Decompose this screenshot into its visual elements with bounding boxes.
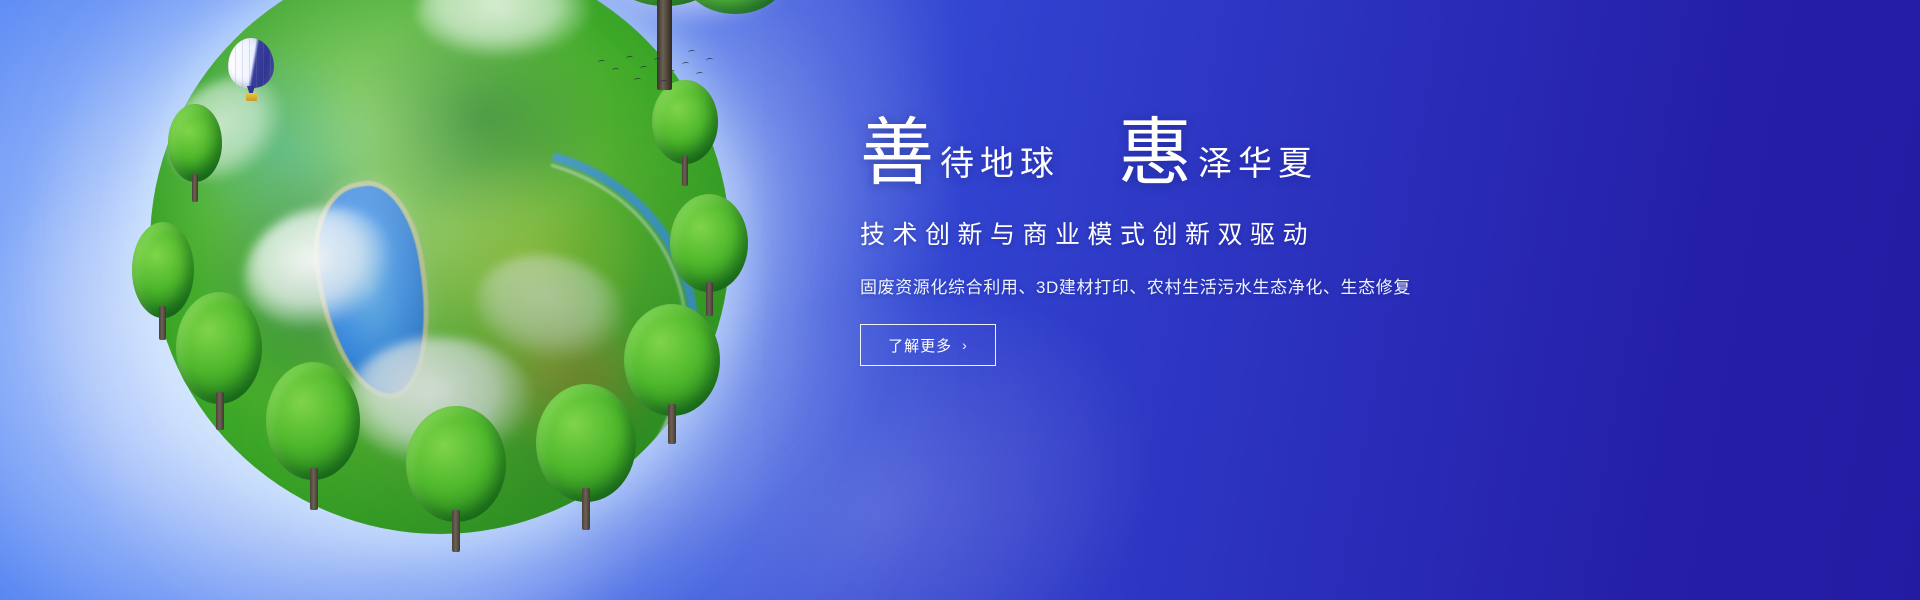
hero-banner: 善 待地球 惠 泽华夏 技术创新与商业模式创新双驱动 固废资源化综合利用、3D建…	[0, 0, 1920, 600]
headline-part1-big: 善	[860, 118, 934, 189]
rim-tree	[262, 362, 366, 512]
headline-part1-small: 待地球	[940, 147, 1060, 189]
banner-description: 固废资源化综合利用、3D建材打印、农村生活污水生态净化、生态修复	[860, 273, 1480, 298]
balloon-basket	[246, 93, 257, 101]
rim-tree	[164, 104, 226, 204]
headline-part2-small: 泽华夏	[1198, 147, 1318, 189]
headline-part2-big: 惠	[1118, 118, 1192, 189]
rim-tree	[400, 406, 512, 556]
learn-more-button[interactable]: 了解更多 ›	[860, 324, 996, 366]
chevron-right-icon: ›	[962, 338, 968, 352]
page-title: 善 待地球 惠 泽华夏	[860, 118, 1480, 189]
rim-tree	[666, 194, 752, 320]
tree-trunk	[657, 0, 672, 90]
rim-tree	[620, 304, 726, 450]
balloon-neck	[247, 86, 255, 93]
balloon-envelope	[228, 38, 274, 88]
hot-air-balloon	[228, 38, 274, 100]
banner-copy: 善 待地球 惠 泽华夏 技术创新与商业模式创新双驱动 固废资源化综合利用、3D建…	[860, 118, 1480, 366]
hero-tree	[545, 0, 795, 88]
learn-more-label: 了解更多	[888, 335, 952, 356]
banner-subtitle: 技术创新与商业模式创新双驱动	[860, 215, 1480, 251]
rim-tree	[648, 80, 722, 190]
rim-tree	[172, 292, 268, 432]
